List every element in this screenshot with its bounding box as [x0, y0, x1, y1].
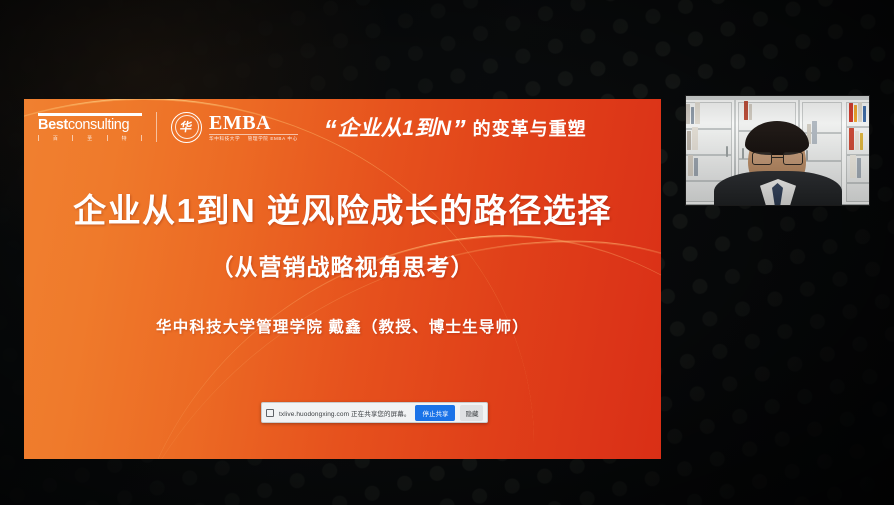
subchar-divider — [141, 135, 142, 141]
stop-sharing-button[interactable]: 停止共享 — [415, 405, 455, 421]
hide-bar-button[interactable]: 隐藏 — [460, 405, 483, 421]
best-consulting-light-word: consulting — [68, 117, 129, 133]
screen-share-notification-bar[interactable]: txlive.huodongxing.com 正在共享您的屏幕。 停止共享 隐藏 — [261, 402, 488, 423]
slide-slogan: “企业从1到N” 的变革与重塑 — [324, 112, 587, 142]
subchar-divider — [72, 135, 73, 141]
logo-top-rule — [38, 113, 142, 116]
best-subchar-3: 特 — [122, 135, 128, 142]
emba-seal-icon: 华 — [171, 112, 202, 143]
best-consulting-subchars: 百 圣 特 — [38, 135, 142, 142]
emba-subtitle: 华中科技大学 管理学院 EMBA 中心 — [209, 134, 298, 142]
best-consulting-bold-word: Best — [38, 117, 68, 133]
screen-share-icon — [266, 409, 274, 417]
glasses-icon — [752, 152, 803, 165]
share-message: txlive.huodongxing.com 正在共享您的屏幕。 — [279, 408, 410, 418]
slogan-quote-open: “ — [324, 116, 337, 142]
slide-title: 企业从1到N 逆风险成长的路径选择 — [24, 191, 661, 231]
emba-text-block: EMBA 华中科技大学 管理学院 EMBA 中心 — [209, 113, 298, 142]
slide-header: Bestconsulting 百 圣 特 华 EMBA — [24, 99, 661, 155]
logo-separator — [156, 112, 157, 142]
best-subchar-1: 百 — [53, 135, 59, 142]
subchar-divider — [38, 135, 39, 141]
slide-subtitle: （从营销战略视角思考） — [24, 248, 661, 282]
best-consulting-logo: Bestconsulting 百 圣 特 — [38, 113, 142, 142]
subchar-divider — [107, 135, 108, 141]
emba-title: EMBA — [209, 113, 298, 133]
emba-seal-glyph: 华 — [180, 121, 194, 133]
screen-share-desktop: Bestconsulting 百 圣 特 华 EMBA — [0, 0, 894, 505]
bookshelf-cabinet — [844, 100, 870, 204]
slide-body: 企业从1到N 逆风险成长的路径选择 （从营销战略视角思考） 华中科技大学管理学院… — [24, 191, 661, 337]
best-consulting-wordmark: Bestconsulting — [38, 118, 142, 133]
emba-subtitle-left: 华中科技大学 — [209, 136, 240, 141]
slide-presenter: 华中科技大学管理学院 戴鑫（教授、博士生导师） — [24, 315, 661, 337]
slogan-tail: 的变革与重塑 — [473, 115, 587, 141]
best-subchar-2: 圣 — [87, 135, 93, 142]
presenter-video-feed[interactable] — [685, 95, 870, 206]
emba-logo: 华 EMBA 华中科技大学 管理学院 EMBA 中心 — [171, 112, 298, 143]
emba-subtitle-right: 管理学院 EMBA 中心 — [248, 136, 298, 141]
slogan-quote-close: ” — [453, 116, 466, 142]
slogan-emphasis: 企业从1到N — [337, 112, 453, 142]
